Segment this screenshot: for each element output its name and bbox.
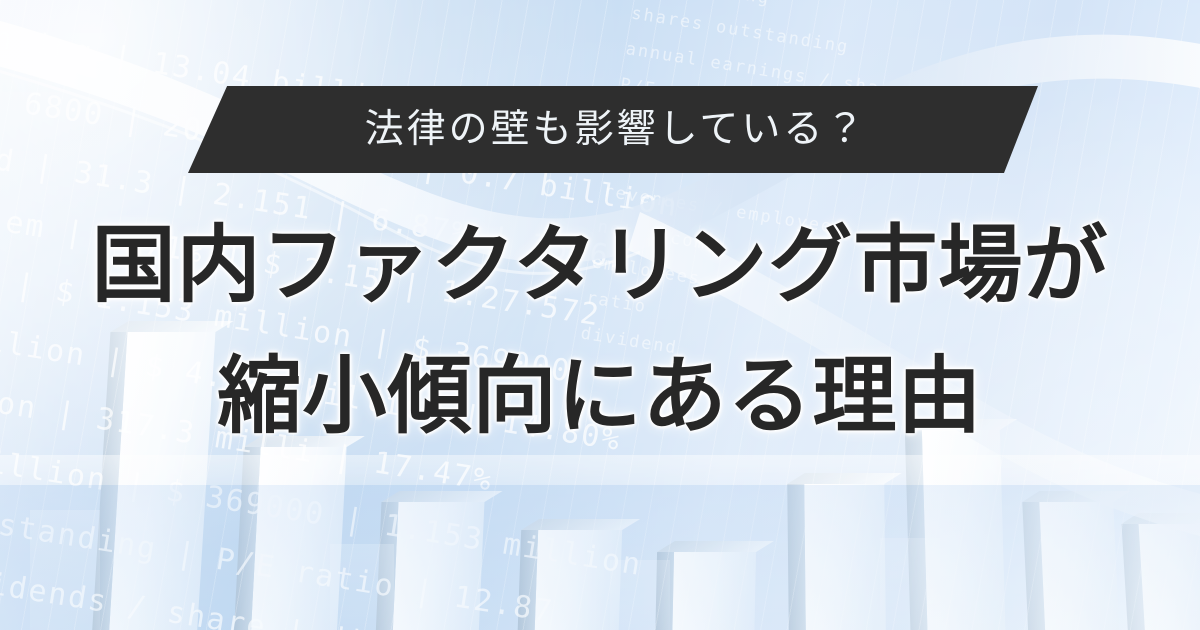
- content-overlay: 法律の壁も影響している？ 国内ファクタリング市場が 縮小傾向にある理由: [0, 0, 1200, 630]
- og-image-canvas: outstanding | 13.04 billion | $ 23985 | …: [0, 0, 1200, 630]
- subtitle-text: 法律の壁も影響している？: [359, 110, 868, 149]
- title-line-2: 縮小傾向にある理由: [0, 331, 1200, 462]
- title-line-1: 国内ファクタリング市場が: [0, 200, 1200, 331]
- subtitle-banner: 法律の壁も影響している？: [188, 86, 1038, 173]
- page-title: 国内ファクタリング市場が 縮小傾向にある理由: [0, 200, 1200, 462]
